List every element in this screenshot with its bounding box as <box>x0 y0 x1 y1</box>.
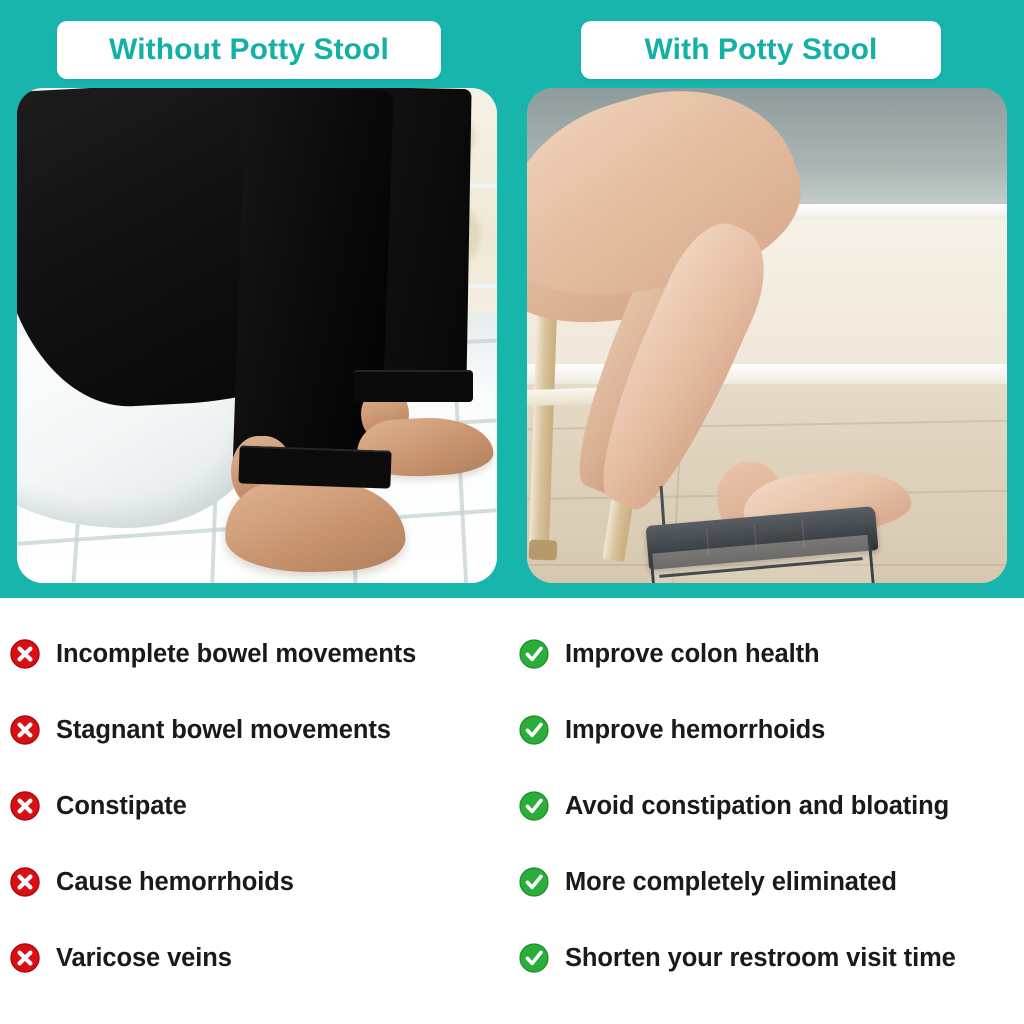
list-item: Cause hemorrhoids <box>10 844 510 920</box>
cross-icon <box>10 791 40 821</box>
cross-icon <box>10 715 40 745</box>
list-item-label: Improve colon health <box>565 640 819 669</box>
check-icon <box>519 943 549 973</box>
list-item: Shorten your restroom visit time <box>519 920 1019 996</box>
list-item-label: Cause hemorrhoids <box>56 868 294 897</box>
with-potty-stool-photo <box>527 88 1007 583</box>
drawbacks-list: Incomplete bowel movements Stagnant bowe… <box>10 616 510 996</box>
trouser-cuff-front <box>238 445 391 488</box>
list-item: Stagnant bowel movements <box>10 692 510 768</box>
check-icon <box>519 639 549 669</box>
list-item: Improve colon health <box>519 616 1019 692</box>
comparison-lists: Incomplete bowel movements Stagnant bowe… <box>0 598 1024 1024</box>
list-item-label: Constipate <box>56 792 187 821</box>
check-icon <box>519 715 549 745</box>
list-item-label: Avoid constipation and bloating <box>565 792 949 821</box>
cross-icon <box>10 943 40 973</box>
list-item-label: Incomplete bowel movements <box>56 640 416 669</box>
with-potty-stool-label: With Potty Stool <box>645 33 878 67</box>
list-item-label: Varicose veins <box>56 944 232 973</box>
trouser-cuff-back <box>353 370 473 402</box>
potty-stool-comparison-infographic: Without Potty Stool With Potty Stool Inc… <box>0 0 1024 1024</box>
list-item-label: More completely eliminated <box>565 868 897 897</box>
check-icon <box>519 867 549 897</box>
cross-icon <box>10 867 40 897</box>
with-potty-stool-badge: With Potty Stool <box>581 21 941 79</box>
benefits-list: Improve colon health Improve hemorrhoids <box>519 616 1019 996</box>
without-potty-stool-badge: Without Potty Stool <box>57 21 441 79</box>
chair-foot-front <box>529 540 558 561</box>
list-item: Improve hemorrhoids <box>519 692 1019 768</box>
list-item: More completely eliminated <box>519 844 1019 920</box>
list-item: Constipate <box>10 768 510 844</box>
cross-icon <box>10 639 40 669</box>
list-item: Incomplete bowel movements <box>10 616 510 692</box>
list-item-label: Shorten your restroom visit time <box>565 944 956 973</box>
list-item-label: Stagnant bowel movements <box>56 716 391 745</box>
check-icon <box>519 791 549 821</box>
list-item: Varicose veins <box>10 920 510 996</box>
list-item: Avoid constipation and bloating <box>519 768 1019 844</box>
without-potty-stool-label: Without Potty Stool <box>109 33 389 67</box>
list-item-label: Improve hemorrhoids <box>565 716 825 745</box>
without-potty-stool-photo <box>17 88 497 583</box>
